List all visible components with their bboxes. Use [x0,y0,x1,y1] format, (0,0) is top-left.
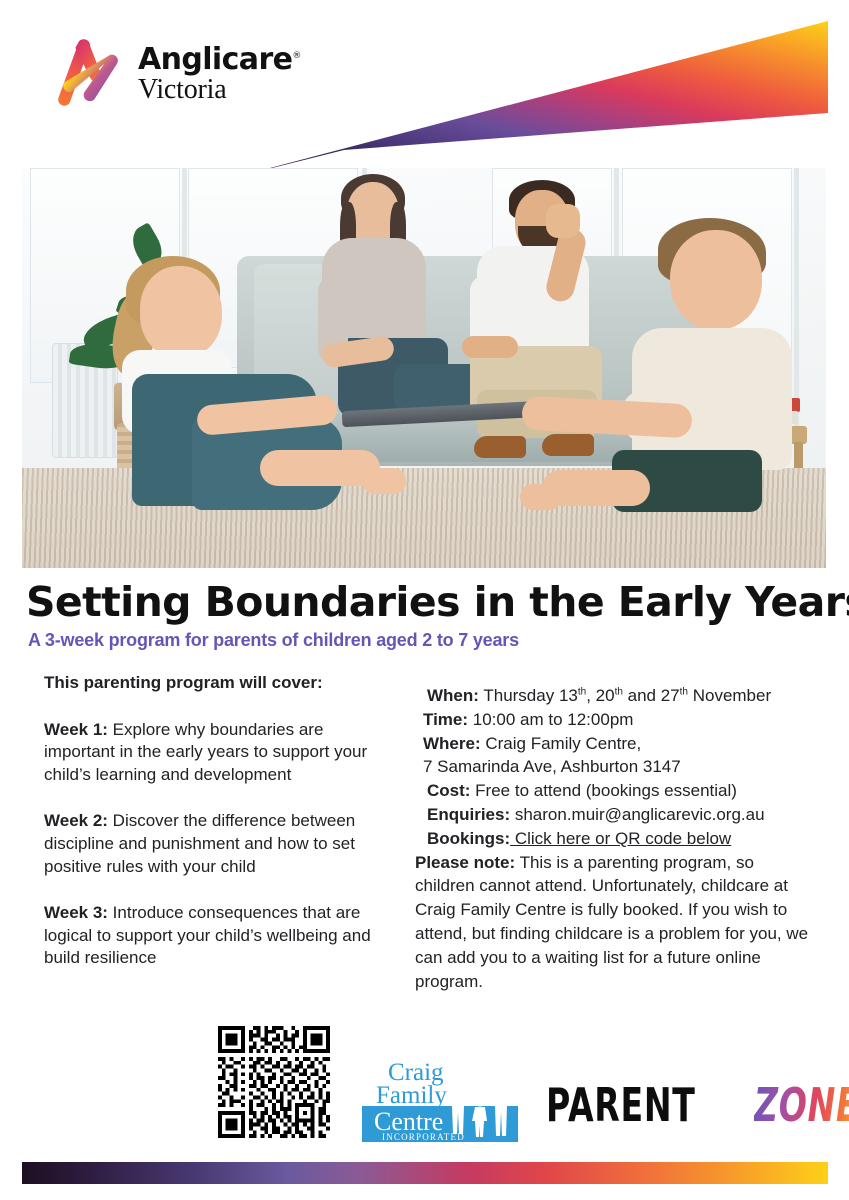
when-value-a: Thursday 13 [479,686,578,705]
logo-wordmark: Anglicare® Victoria [138,43,301,104]
cost-value: Free to attend (bookings essential) [470,781,736,800]
craig-family-centre-logo: Craig Family Centre INCORPORATED [362,1056,518,1142]
detail-enquiries[interactable]: Enquiries: sharon.muir@anglicarevic.org.… [415,803,815,827]
craig-logo-line2: Family [376,1082,447,1109]
qr-code-icon[interactable] [218,1026,330,1138]
program-outline-column: This parenting program will cover: Week … [44,672,384,970]
please-note-text: This is a parenting program, so children… [415,853,808,991]
registered-mark-icon: ® [292,51,300,61]
cost-label: Cost: [427,781,470,800]
footer-gradient-bar [22,1162,828,1184]
detail-time: Time: 10:00 am to 12:00pm [415,708,815,732]
parentzone-logo: PARENTZONE [546,1078,849,1132]
craig-logo-line4: INCORPORATED [382,1132,465,1142]
logo-name-line2: Victoria [138,76,301,104]
week-3-label: Week 3: [44,903,108,922]
logo-name-line1: Anglicare® [138,45,301,75]
when-ordinal-c: th [680,686,688,697]
time-value: 10:00 am to 12:00pm [468,710,633,729]
poster-title: Setting Boundaries in the Early Years [26,578,849,626]
please-note-label: Please note: [415,853,515,872]
detail-please-note: Please note: This is a parenting program… [415,851,815,994]
parentzone-zone-text: ZONE [754,1078,849,1132]
poster-page: Anglicare® Victoria [0,0,849,1200]
parentzone-parent-text: PARENT [546,1078,696,1132]
detail-bookings[interactable]: Bookings: Click here or QR code below [415,827,815,851]
when-value-d: November [688,686,771,705]
enquiries-label: Enquiries: [427,805,510,824]
hero-photo [22,168,826,568]
week-2-block: Week 2: Discover the difference between … [44,810,384,878]
when-ordinal-b: th [615,686,623,697]
when-label: When: [427,686,479,705]
event-details-column: When: Thursday 13th, 20th and 27th Novem… [415,684,815,993]
poster-subtitle: A 3-week program for parents of children… [28,630,519,651]
detail-when: When: Thursday 13th, 20th and 27th Novem… [415,684,815,708]
week-3-block: Week 3: Introduce consequences that are … [44,902,384,970]
when-value-b: , 20 [586,686,614,705]
bookings-label: Bookings: [427,829,510,848]
week-1-block: Week 1: Explore why boundaries are impor… [44,719,384,787]
detail-cost: Cost: Free to attend (bookings essential… [415,779,815,803]
anglicare-victoria-logo: Anglicare® Victoria [48,34,301,112]
when-ordinal-a: th [578,686,586,697]
program-heading: This parenting program will cover: [44,672,384,695]
detail-where: Where: Craig Family Centre, [415,732,815,756]
when-value-c: and 27 [623,686,680,705]
where-label: Where: [423,734,481,753]
bookings-link[interactable]: Click here or QR code below [510,829,731,848]
where-value: Craig Family Centre, [481,734,642,753]
time-label: Time: [423,710,468,729]
anglicare-a-mark-icon [48,34,124,112]
week-1-label: Week 1: [44,720,108,739]
detail-address: 7 Samarinda Ave, Ashburton 3147 [415,755,815,779]
enquiries-email[interactable]: sharon.muir@anglicarevic.org.au [510,805,764,824]
week-2-label: Week 2: [44,811,108,830]
